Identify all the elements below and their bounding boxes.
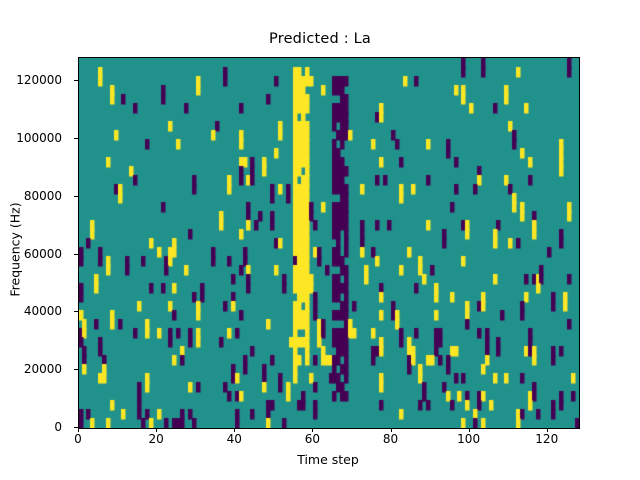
x-tick-mark bbox=[156, 428, 157, 432]
x-tick-mark bbox=[312, 428, 313, 432]
matplotlib-figure: Predicted : La 0200004000060000800001000… bbox=[0, 0, 640, 480]
heatmap-axes bbox=[78, 57, 580, 429]
x-tick-label: 120 bbox=[535, 432, 558, 446]
x-tick-label: 60 bbox=[305, 432, 320, 446]
x-tick-label: 80 bbox=[383, 432, 398, 446]
x-tick-mark bbox=[234, 428, 235, 432]
y-tick-mark bbox=[74, 138, 78, 139]
x-tick-label: 0 bbox=[74, 432, 82, 446]
x-tick-mark bbox=[547, 428, 548, 432]
x-tick-label: 100 bbox=[457, 432, 480, 446]
y-tick-label: 0 bbox=[0, 420, 68, 434]
y-tick-label: 120000 bbox=[0, 73, 68, 87]
y-tick-label: 20000 bbox=[0, 362, 68, 376]
y-tick-mark bbox=[74, 311, 78, 312]
x-tick-label: 40 bbox=[227, 432, 242, 446]
heatmap-image bbox=[79, 58, 579, 428]
x-tick-mark bbox=[391, 428, 392, 432]
x-tick-mark bbox=[78, 428, 79, 432]
page-title: Predicted : La bbox=[0, 31, 640, 47]
y-tick-mark bbox=[74, 80, 78, 81]
y-axis-label: Frequency (Hz) bbox=[8, 165, 23, 335]
x-tick-label: 20 bbox=[148, 432, 163, 446]
y-tick-mark bbox=[74, 254, 78, 255]
x-axis-label: Time step bbox=[78, 452, 578, 467]
x-tick-mark bbox=[469, 428, 470, 432]
y-tick-label: 100000 bbox=[0, 131, 68, 145]
y-tick-mark bbox=[74, 196, 78, 197]
y-tick-mark bbox=[74, 369, 78, 370]
